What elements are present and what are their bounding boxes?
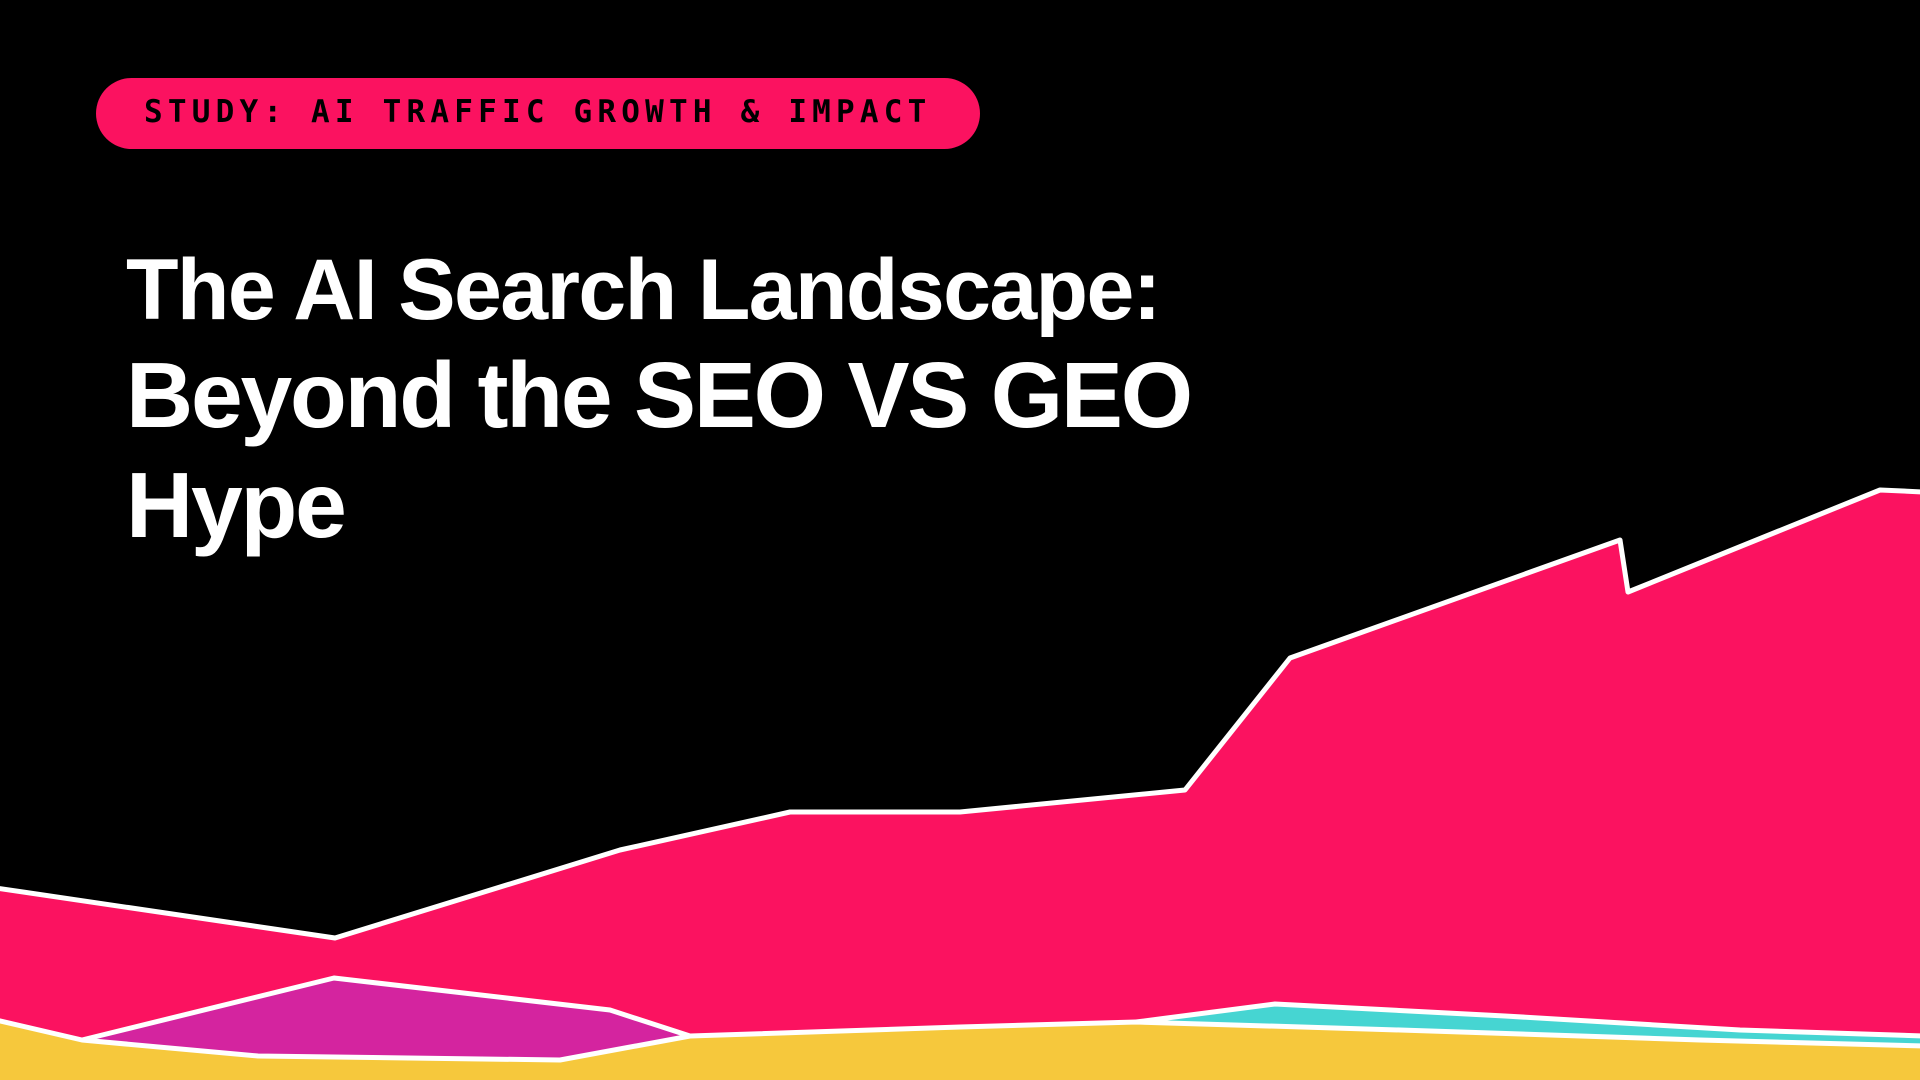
headline-line-1: The AI Search Landscape: <box>126 240 1686 341</box>
cover-canvas: STUDY: AI TRAFFIC GROWTH & IMPACT The AI… <box>0 0 1920 1080</box>
badge-row: STUDY: AI TRAFFIC GROWTH & IMPACT <box>96 78 980 149</box>
headline-line-3: Hype <box>126 451 1686 561</box>
page-title: The AI Search Landscape: Beyond the SEO … <box>126 240 1686 561</box>
headline-line-2: Beyond the SEO VS GEO <box>126 341 1686 451</box>
study-badge: STUDY: AI TRAFFIC GROWTH & IMPACT <box>96 78 980 149</box>
